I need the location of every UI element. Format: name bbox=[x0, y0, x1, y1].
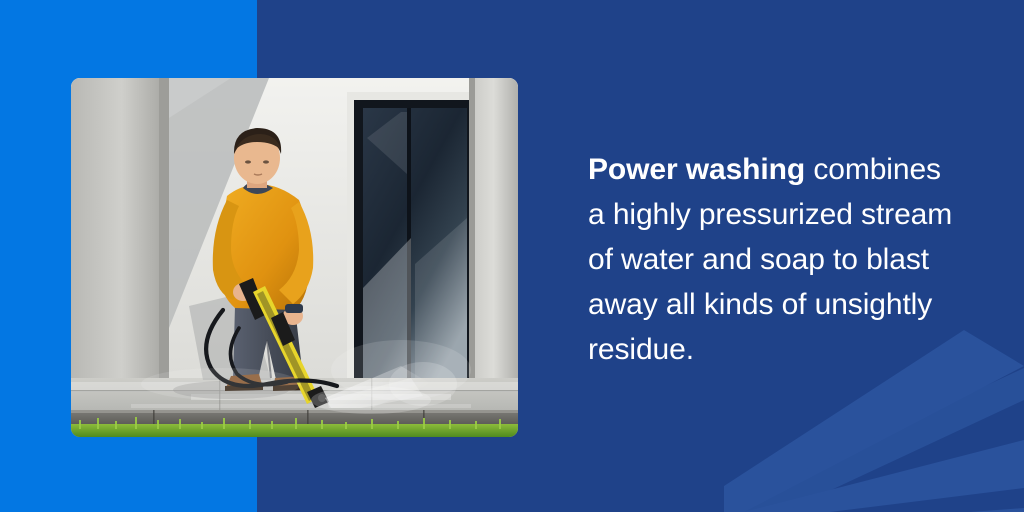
promo-banner: Power washing combines a highly pressuri… bbox=[0, 0, 1024, 512]
promo-copy-lead: Power washing bbox=[588, 153, 805, 186]
promo-copy: Power washing combines a highly pressuri… bbox=[588, 147, 960, 372]
power-washing-photo bbox=[71, 78, 518, 437]
photo-illustration bbox=[71, 78, 518, 437]
